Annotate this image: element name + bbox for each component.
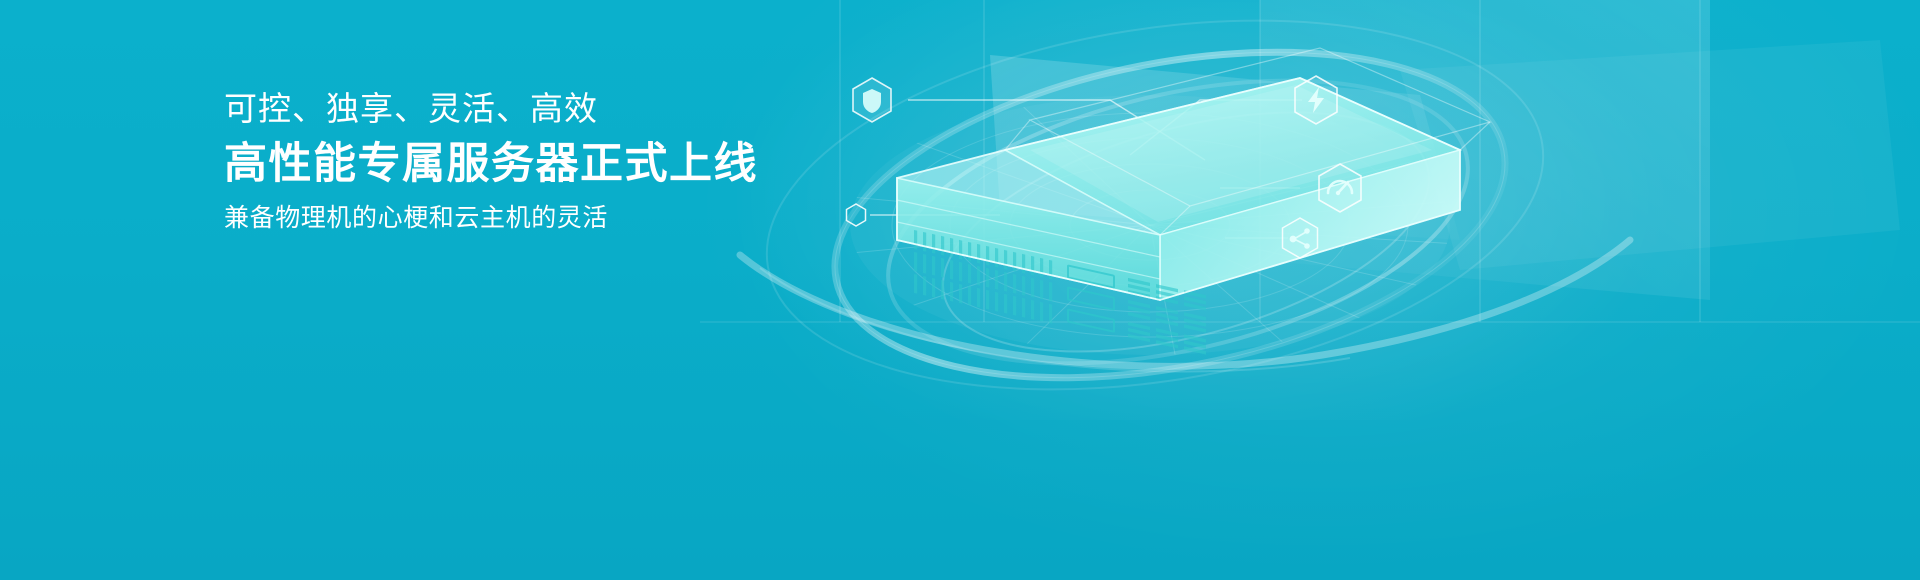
banner-eyebrow: 可控、独享、灵活、高效	[224, 86, 984, 132]
promo-banner: 可控、独享、灵活、高效 高性能专属服务器正式上线 兼备物理机的心梗和云主机的灵活	[0, 0, 1920, 580]
banner-subcopy: 兼备物理机的心梗和云主机的灵活	[224, 198, 984, 238]
banner-headline: 高性能专属服务器正式上线	[224, 134, 984, 194]
banner-copy: 可控、独享、灵活、高效 高性能专属服务器正式上线 兼备物理机的心梗和云主机的灵活	[224, 86, 984, 238]
